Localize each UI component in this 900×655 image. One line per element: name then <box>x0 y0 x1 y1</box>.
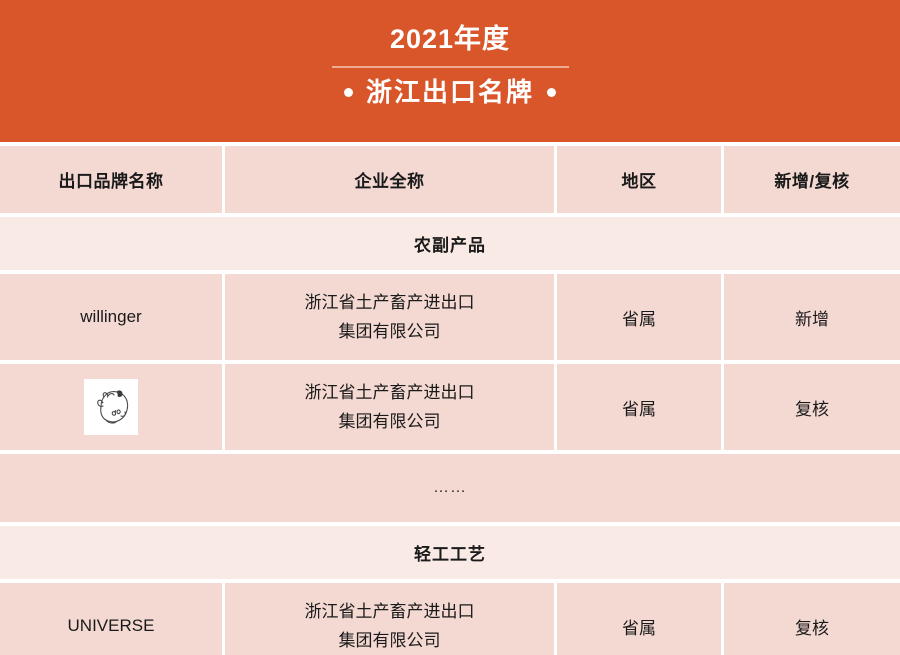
ellipsis-label: …… <box>433 480 467 496</box>
cell-status: 复核 <box>724 583 900 655</box>
company-name: 浙江省土产畜产进出口 集团有限公司 <box>305 288 475 346</box>
cell-company: 浙江省土产畜产进出口 集团有限公司 <box>225 364 554 450</box>
animal-line-drawing-logo-icon <box>84 379 138 435</box>
page-subtitle: 浙江出口名牌 <box>366 76 534 108</box>
cell-status: 复核 <box>724 364 900 450</box>
cell-brand: UNIVERSE <box>0 583 222 655</box>
cell-region: 省属 <box>557 364 721 450</box>
cell-company: 浙江省土产畜产进出口 集团有限公司 <box>225 274 554 360</box>
continuation-row: …… <box>0 454 900 522</box>
export-brand-list-page: 2021年度 浙江出口名牌 出口品牌名称 企业全称 地区 新增/复核 农副产品 … <box>0 0 900 655</box>
cell-region: 省属 <box>557 274 721 360</box>
category-label: 轻工工艺 <box>414 540 486 565</box>
cell-brand: willinger <box>0 274 222 360</box>
brand-table: 出口品牌名称 企业全称 地区 新增/复核 农副产品 willinger 浙江省土… <box>0 142 900 655</box>
bullet-dot-icon <box>344 88 353 97</box>
column-header-status: 新增/复核 <box>724 146 900 213</box>
banner-subtitle-group: 浙江出口名牌 <box>344 76 556 108</box>
table-row: 浙江省土产畜产进出口 集团有限公司 省属 复核 <box>0 364 900 450</box>
table-row: willinger 浙江省土产畜产进出口 集团有限公司 省属 新增 <box>0 274 900 360</box>
page-title: 2021年度 <box>390 22 510 56</box>
page-banner: 2021年度 浙江出口名牌 <box>0 0 900 142</box>
column-header-company: 企业全称 <box>225 146 554 213</box>
company-name: 浙江省土产畜产进出口 集团有限公司 <box>305 378 475 436</box>
column-header-brand: 出口品牌名称 <box>0 146 222 213</box>
table-row: UNIVERSE 浙江省土产畜产进出口 集团有限公司 省属 复核 <box>0 583 900 655</box>
category-row: 轻工工艺 <box>0 526 900 579</box>
company-name: 浙江省土产畜产进出口 集团有限公司 <box>305 597 475 655</box>
table-header-row: 出口品牌名称 企业全称 地区 新增/复核 <box>0 146 900 213</box>
category-label: 农副产品 <box>414 231 486 256</box>
cell-status: 新增 <box>724 274 900 360</box>
cell-brand-logo <box>0 364 222 450</box>
banner-divider <box>332 66 569 68</box>
cell-region: 省属 <box>557 583 721 655</box>
bullet-dot-icon <box>547 88 556 97</box>
cell-company: 浙江省土产畜产进出口 集团有限公司 <box>225 583 554 655</box>
category-row: 农副产品 <box>0 217 900 270</box>
column-header-region: 地区 <box>557 146 721 213</box>
